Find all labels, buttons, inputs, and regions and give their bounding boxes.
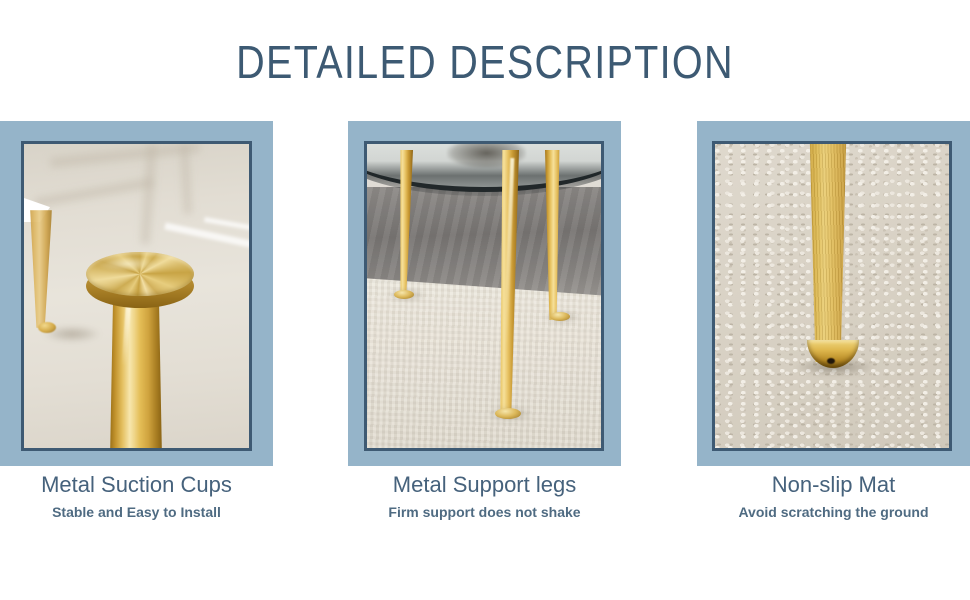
caption-subtitle-metal-suction-cups: Stable and Easy to Install bbox=[0, 503, 273, 522]
caption-metal-suction-cups: Metal Suction Cups Stable and Easy to In… bbox=[0, 470, 273, 522]
photo-frame-metal-support-legs bbox=[364, 141, 604, 451]
photo-metal-support-legs bbox=[367, 144, 601, 448]
caption-subtitle-non-slip-mat: Avoid scratching the ground bbox=[697, 503, 970, 522]
caption-title-non-slip-mat: Non-slip Mat bbox=[697, 470, 970, 500]
caption-title-metal-suction-cups: Metal Suction Cups bbox=[0, 470, 273, 500]
photo-frame-non-slip-mat bbox=[712, 141, 952, 451]
photo-frame-metal-suction-cups bbox=[21, 141, 252, 451]
page-title: DETAILED DESCRIPTION bbox=[68, 36, 902, 88]
feature-panel-non-slip-mat bbox=[697, 121, 970, 466]
caption-metal-support-legs: Metal Support legs Firm support does not… bbox=[348, 470, 621, 522]
feature-panel-metal-support-legs bbox=[348, 121, 621, 466]
feature-captions: Metal Suction Cups Stable and Easy to In… bbox=[0, 470, 970, 540]
caption-title-metal-support-legs: Metal Support legs bbox=[348, 470, 621, 500]
caption-subtitle-metal-support-legs: Firm support does not shake bbox=[348, 503, 621, 522]
feature-panel-metal-suction-cups bbox=[0, 121, 273, 466]
photo-metal-suction-cups bbox=[24, 144, 249, 448]
caption-non-slip-mat: Non-slip Mat Avoid scratching the ground bbox=[697, 470, 970, 522]
feature-panels bbox=[0, 121, 970, 466]
photo-non-slip-mat bbox=[715, 144, 949, 448]
